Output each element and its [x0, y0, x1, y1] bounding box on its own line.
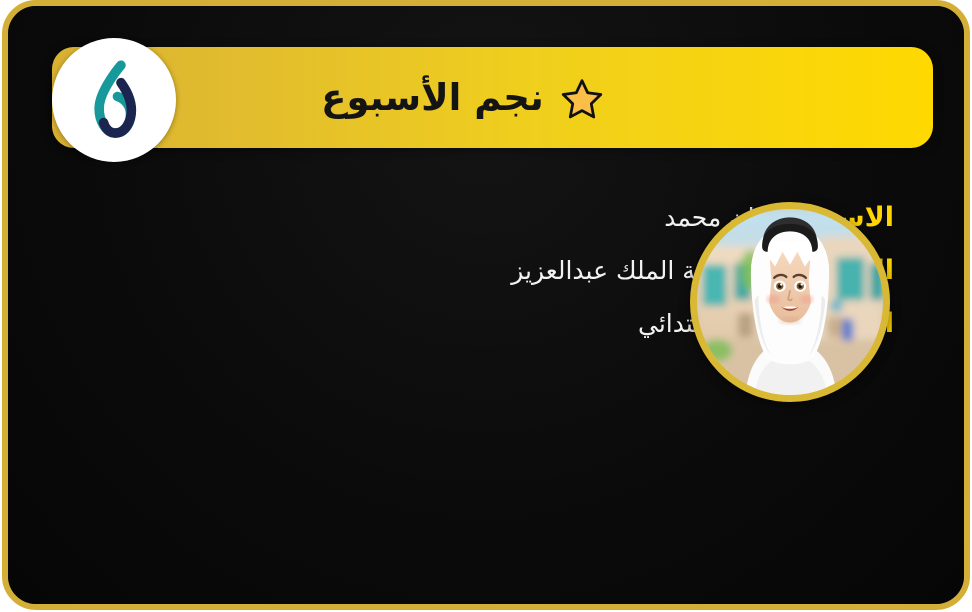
logo-badge	[52, 38, 176, 162]
page-title: نجم الأسبوع	[321, 76, 544, 119]
header-banner: نجم الأسبوع	[52, 47, 933, 148]
star-of-the-week-card: نجم الأسبوع الاسم: راكان محمد المدرسة: ا…	[2, 0, 970, 610]
star-icon	[560, 77, 604, 121]
banner-title-row: نجم الأسبوع	[52, 47, 933, 148]
flame-droplet-logo-icon	[86, 60, 142, 140]
student-portrait	[690, 202, 890, 402]
